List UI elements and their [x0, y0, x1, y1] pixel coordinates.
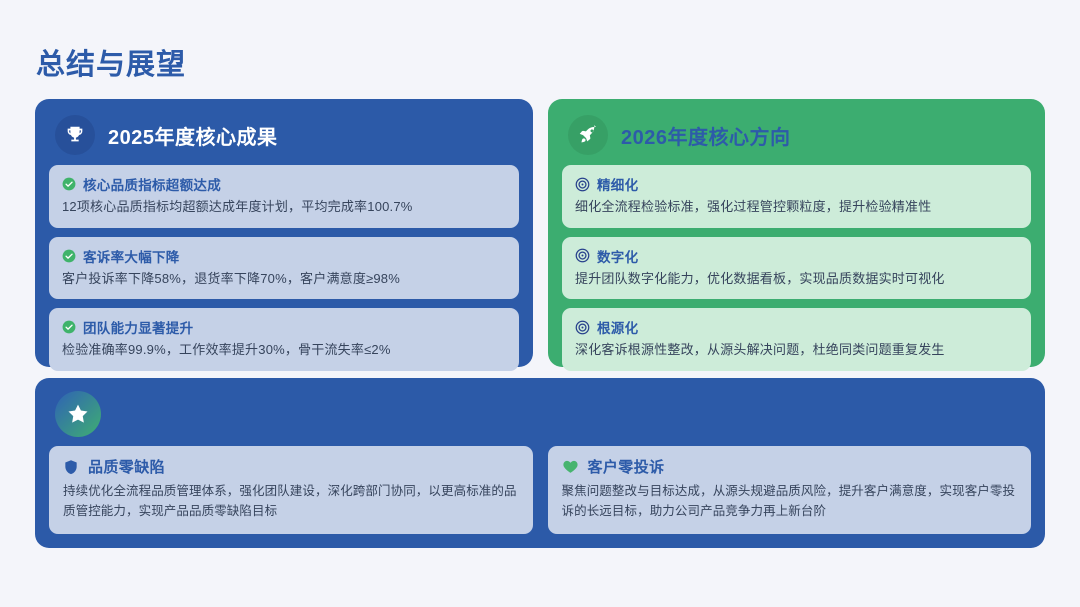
- goal-card-header: 客户零投诉: [562, 456, 1018, 477]
- item-description: 12项核心品质指标均超额达成年度计划，平均完成率100.7%: [62, 197, 506, 217]
- goal-card: 品质零缺陷 持续优化全流程品质管理体系，强化团队建设，深化跨部门协同，以更高标准…: [49, 446, 533, 534]
- goal-card-header: 品质零缺陷: [63, 456, 519, 477]
- achievements-panel-title: 2025年度核心成果: [108, 121, 278, 150]
- directions-panel-header: 2026年度核心方向: [562, 115, 1031, 155]
- slide-root: 总结与展望 2025年度核心成果: [0, 0, 1080, 607]
- top-panels-row: 2025年度核心成果 核心品质指标超额达成 12项核心品质指标均超额达成年度计划…: [35, 99, 1045, 367]
- achievements-panel: 2025年度核心成果 核心品质指标超额达成 12项核心品质指标均超额达成年度计划…: [35, 99, 533, 367]
- star-icon: [55, 391, 101, 437]
- rocket-icon: [568, 115, 608, 155]
- item-title: 团队能力显著提升: [83, 317, 193, 337]
- trophy-icon: [55, 115, 95, 155]
- list-item: 核心品质指标超额达成 12项核心品质指标均超额达成年度计划，平均完成率100.7…: [49, 165, 519, 228]
- target-icon: [575, 320, 590, 335]
- list-item: 团队能力显著提升 检验准确率99.9%，工作效率提升30%，骨干流失率≤2%: [49, 308, 519, 371]
- page-title: 总结与展望: [36, 48, 186, 83]
- item-description: 细化全流程检验标准，强化过程管控颗粒度，提升检验精准性: [575, 197, 1018, 217]
- goal-card: 客户零投诉 聚焦问题整改与目标达成，从源头规避品质风险，提升客户满意度，实现客户…: [548, 446, 1032, 534]
- item-description: 深化客诉根源性整改，从源头解决问题，杜绝同类问题重复发生: [575, 340, 1018, 360]
- check-circle-icon: [62, 249, 76, 263]
- directions-panel-title: 2026年度核心方向: [621, 121, 791, 150]
- goals-panel: 品质零缺陷 持续优化全流程品质管理体系，强化团队建设，深化跨部门协同，以更高标准…: [35, 378, 1045, 548]
- heart-icon: [562, 458, 579, 475]
- item-description: 提升团队数字化能力，优化数据看板，实现品质数据实时可视化: [575, 269, 1018, 289]
- target-icon: [575, 177, 590, 192]
- list-item: 精细化 细化全流程检验标准，强化过程管控颗粒度，提升检验精准性: [562, 165, 1031, 228]
- list-item: 根源化 深化客诉根源性整改，从源头解决问题，杜绝同类问题重复发生: [562, 308, 1031, 371]
- goal-card-description: 聚焦问题整改与目标达成，从源头规避品质风险，提升客户满意度，实现客户零投诉的长远…: [562, 481, 1018, 522]
- item-header: 客诉率大幅下降: [62, 246, 506, 266]
- goals-panel-header: [49, 390, 1031, 438]
- list-item: 客诉率大幅下降 客户投诉率下降58%，退货率下降70%，客户满意度≥98%: [49, 237, 519, 300]
- item-title: 根源化: [597, 317, 638, 337]
- directions-item-list: 精细化 细化全流程检验标准，强化过程管控颗粒度，提升检验精准性: [562, 165, 1031, 371]
- goal-card-title: 客户零投诉: [588, 456, 665, 477]
- achievements-panel-header: 2025年度核心成果: [49, 115, 519, 155]
- goal-card-title: 品质零缺陷: [88, 456, 165, 477]
- check-circle-icon: [62, 177, 76, 191]
- goals-card-row: 品质零缺陷 持续优化全流程品质管理体系，强化团队建设，深化跨部门协同，以更高标准…: [49, 446, 1031, 534]
- item-description: 检验准确率99.9%，工作效率提升30%，骨干流失率≤2%: [62, 340, 506, 360]
- achievements-item-list: 核心品质指标超额达成 12项核心品质指标均超额达成年度计划，平均完成率100.7…: [49, 165, 519, 371]
- list-item: 数字化 提升团队数字化能力，优化数据看板，实现品质数据实时可视化: [562, 237, 1031, 300]
- shield-icon: [63, 459, 79, 475]
- goal-card-description: 持续优化全流程品质管理体系，强化团队建设，深化跨部门协同，以更高标准的品质管控能…: [63, 481, 519, 522]
- directions-panel: 2026年度核心方向 精细化 细化全流程检验标准: [548, 99, 1045, 367]
- item-header: 根源化: [575, 317, 1018, 337]
- item-header: 精细化: [575, 174, 1018, 194]
- item-title: 数字化: [597, 246, 638, 266]
- target-icon: [575, 248, 590, 263]
- item-header: 团队能力显著提升: [62, 317, 506, 337]
- check-circle-icon: [62, 320, 76, 334]
- item-header: 核心品质指标超额达成: [62, 174, 506, 194]
- item-title: 精细化: [597, 174, 638, 194]
- item-description: 客户投诉率下降58%，退货率下降70%，客户满意度≥98%: [62, 269, 506, 289]
- item-header: 数字化: [575, 246, 1018, 266]
- item-title: 核心品质指标超额达成: [83, 174, 221, 194]
- item-title: 客诉率大幅下降: [83, 246, 180, 266]
